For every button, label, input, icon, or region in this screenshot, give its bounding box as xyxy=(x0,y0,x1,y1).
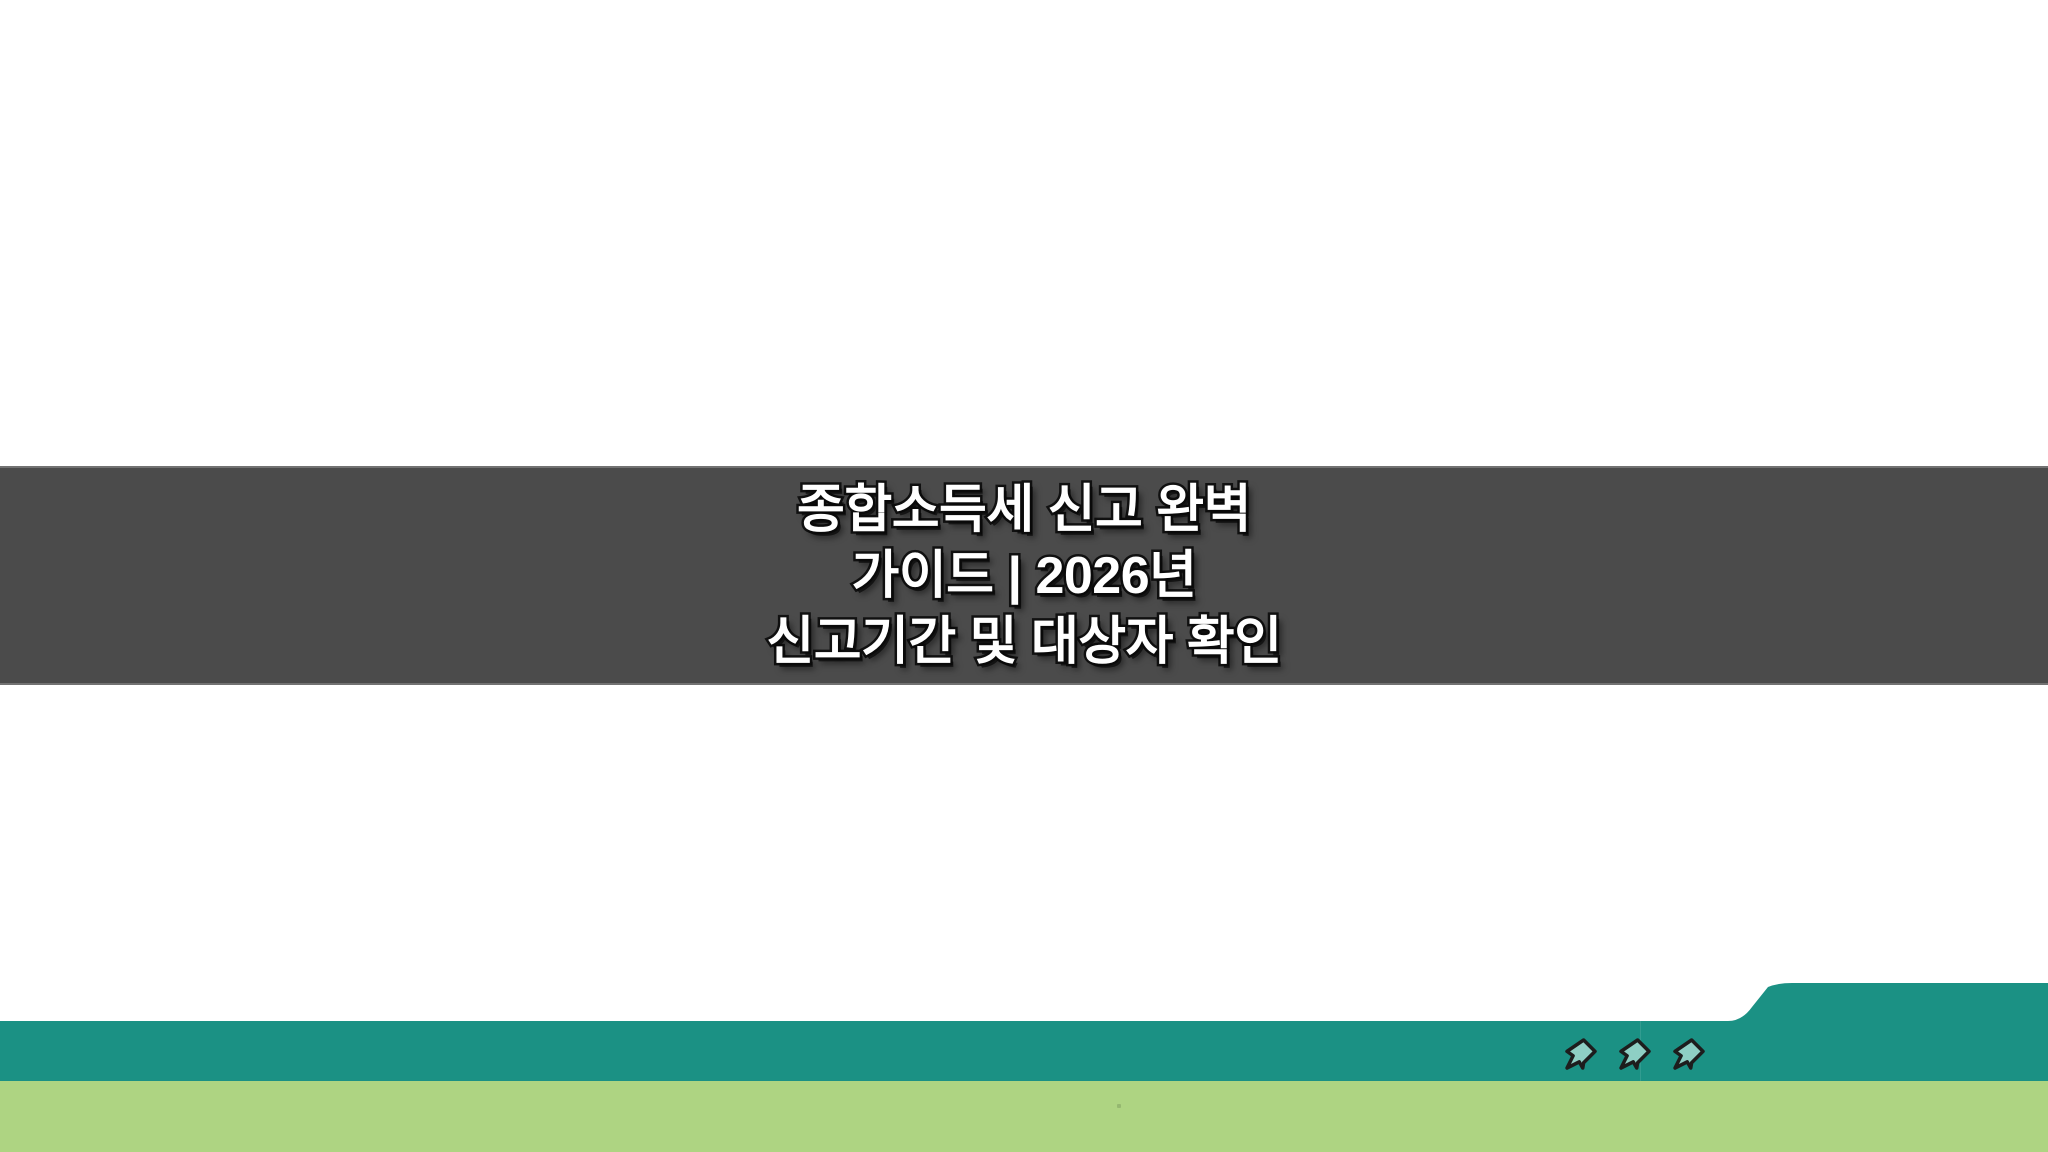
sparkle-diamond-2-icon xyxy=(1614,1033,1656,1075)
teal-band-shape xyxy=(0,960,2048,1085)
title-banner: 종합소득세 신고 완벽 가이드 | 2026년 신고기간 및 대상자 확인 xyxy=(0,466,2048,685)
page-title: 종합소득세 신고 완벽 가이드 | 2026년 신고기간 및 대상자 확인 xyxy=(766,477,1281,675)
thumbnail-canvas: 종합소득세 신고 완벽 가이드 | 2026년 신고기간 및 대상자 확인 xyxy=(0,0,2048,1152)
teal-footer-band xyxy=(0,960,2048,1085)
sparkle-diamond-3-icon xyxy=(1668,1033,1710,1075)
green-band-speck xyxy=(1117,1104,1121,1108)
sparkle-diamond-1-icon xyxy=(1560,1033,1602,1075)
green-footer-band xyxy=(0,1081,2048,1152)
top-blank-area xyxy=(0,0,2048,466)
sparkle-decoration-group xyxy=(1560,1025,1730,1083)
